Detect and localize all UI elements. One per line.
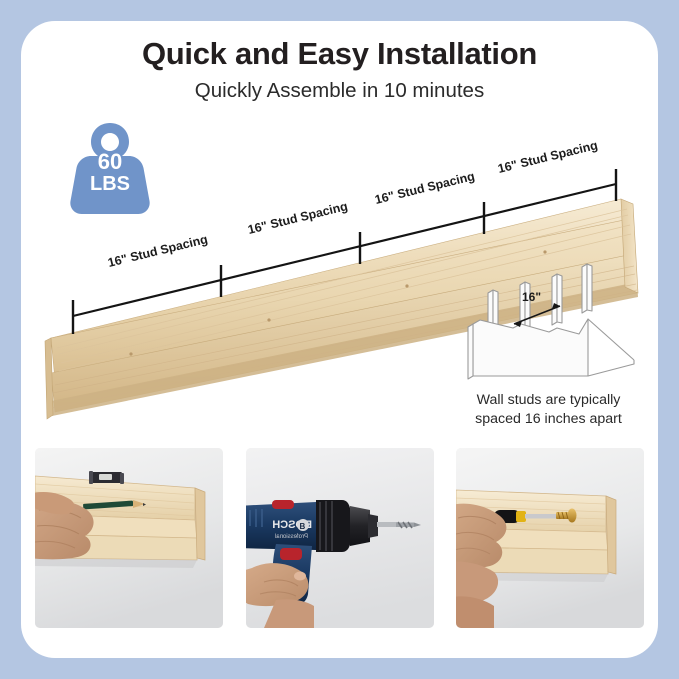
- page-subtitle: Quickly Assemble in 10 minutes: [21, 79, 658, 103]
- stud-caption-line-2: spaced 16 inches apart: [446, 410, 651, 429]
- drill-brand-sub-label: Professional: [274, 534, 307, 540]
- stud-diagram-caption: Wall studs are typically spaced 16 inche…: [446, 391, 651, 428]
- wall-stud-4: [582, 264, 587, 313]
- drill-direction-switch: [272, 500, 294, 509]
- page-root: Quick and Easy Installation Quickly Asse…: [0, 0, 679, 679]
- content-card: Quick and Easy Installation Quickly Asse…: [21, 21, 658, 658]
- stud-caption-line-1: Wall studs are typically: [446, 391, 651, 410]
- drywall-face: [473, 319, 588, 376]
- page-title: Quick and Easy Installation: [21, 36, 658, 72]
- stud-spacing-label-3: 16" Stud Spacing: [373, 169, 476, 207]
- stud-spacing-label-1: 16" Stud Spacing: [106, 232, 209, 270]
- svg-text:B: B: [299, 522, 305, 531]
- installation-steps-photos: BOSCH Professional B: [35, 448, 644, 628]
- photo-drive-screw: [456, 448, 644, 628]
- stud-dimension-label: 16": [522, 290, 541, 304]
- wall-stud-3: [552, 274, 557, 325]
- photo-mark-with-pencil: [35, 448, 223, 628]
- wall-stud-diagram: 16": [456, 256, 641, 386]
- stud-spacing-label-4: 16" Stud Spacing: [496, 138, 599, 176]
- stud-spacing-label-2: 16" Stud Spacing: [246, 199, 349, 237]
- photo-drill-hole: BOSCH Professional B: [246, 448, 434, 628]
- drill-trigger: [280, 548, 302, 560]
